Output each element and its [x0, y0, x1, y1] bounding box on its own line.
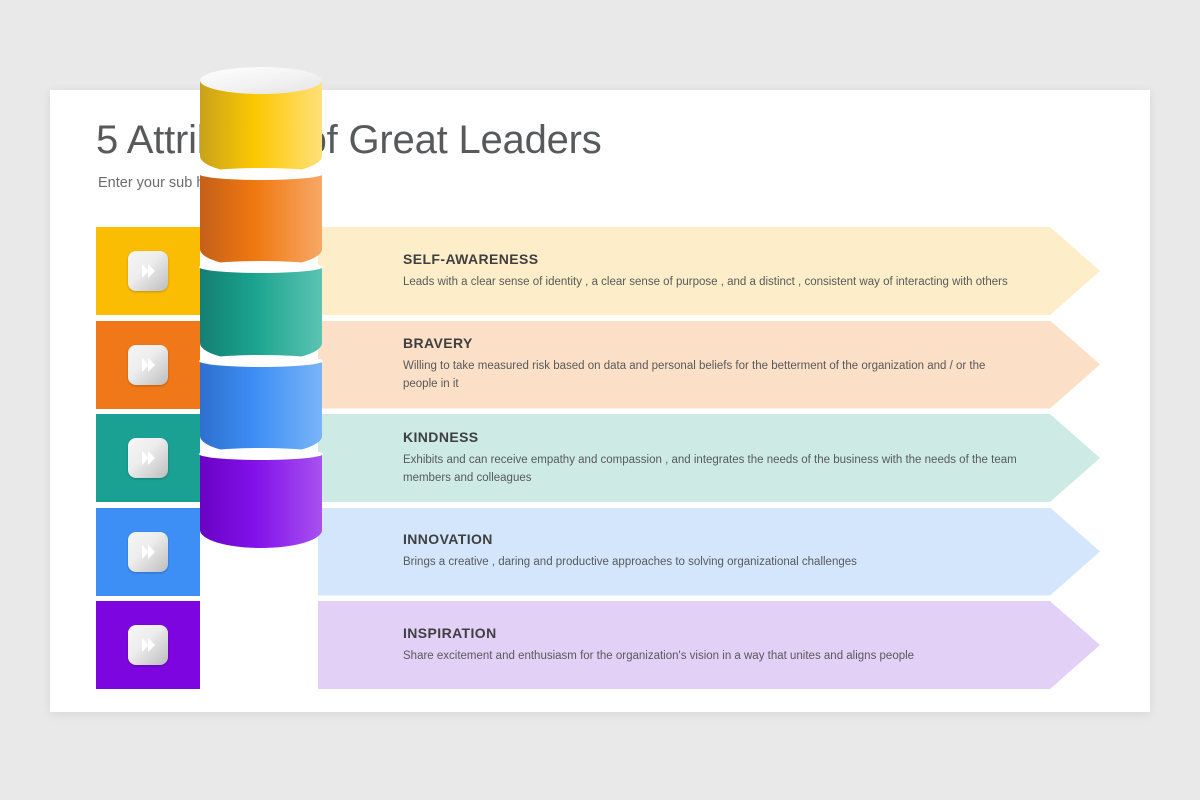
double-chevron-right-icon[interactable]: [128, 345, 168, 385]
attribute-banner: BRAVERYWilling to take measured risk bas…: [318, 321, 1100, 409]
cylinder-segment: [200, 361, 322, 455]
double-chevron-right-icon[interactable]: [128, 251, 168, 291]
attribute-banner: INNOVATIONBrings a creative , daring and…: [318, 508, 1100, 596]
cylinder-segment-rim: [199, 261, 323, 273]
cylinder-segment-rim: [199, 355, 323, 367]
attribute-description: Brings a creative , daring and productiv…: [403, 554, 1023, 572]
cylinder-top-ellipse: [200, 67, 322, 94]
attribute-text-block: BRAVERYWilling to take measured risk bas…: [403, 321, 1023, 409]
cylinder-segment: [200, 80, 322, 174]
attribute-description: Leads with a clear sense of identity , a…: [403, 274, 1023, 292]
cylinder-segment-body: [200, 174, 322, 268]
attribute-title: BRAVERY: [403, 335, 1023, 351]
attribute-description: Exhibits and can receive empathy and com…: [403, 452, 1023, 488]
attribute-title: INSPIRATION: [403, 625, 1023, 641]
attribute-title: KINDNESS: [403, 429, 1023, 445]
slide-card: 5 Attributes of Great Leaders Enter your…: [50, 90, 1150, 712]
attribute-color-tab[interactable]: [96, 414, 200, 502]
attribute-banner: SELF-AWARENESSLeads with a clear sense o…: [318, 227, 1100, 315]
attribute-color-tab[interactable]: [96, 321, 200, 409]
cylinder-segment-rim: [199, 448, 323, 460]
cylinder-segment-body: [200, 454, 322, 548]
attribute-color-tab[interactable]: [96, 601, 200, 689]
double-chevron-right-icon[interactable]: [128, 532, 168, 572]
attribute-title: INNOVATION: [403, 531, 1023, 547]
stacked-cylinder-graphic: [200, 80, 322, 552]
attribute-banner: KINDNESSExhibits and can receive empathy…: [318, 414, 1100, 502]
cylinder-segment: [200, 454, 322, 548]
cylinder-segment-body: [200, 267, 322, 361]
attribute-text-block: INNOVATIONBrings a creative , daring and…: [403, 508, 1023, 596]
cylinder-segment-body: [200, 80, 322, 174]
cylinder-segment-rim: [199, 168, 323, 180]
cylinder-segment: [200, 267, 322, 361]
attribute-color-tab[interactable]: [96, 227, 200, 315]
page-title: 5 Attributes of Great Leaders: [96, 118, 602, 163]
attribute-text-block: INSPIRATIONShare excitement and enthusia…: [403, 601, 1023, 689]
double-chevron-right-icon[interactable]: [128, 438, 168, 478]
attribute-row[interactable]: INSPIRATIONShare excitement and enthusia…: [50, 601, 1150, 689]
cylinder-segment-body: [200, 361, 322, 455]
attribute-text-block: KINDNESSExhibits and can receive empathy…: [403, 414, 1023, 502]
attribute-color-tab[interactable]: [96, 508, 200, 596]
double-chevron-right-icon[interactable]: [128, 625, 168, 665]
attribute-text-block: SELF-AWARENESSLeads with a clear sense o…: [403, 227, 1023, 315]
attribute-title: SELF-AWARENESS: [403, 251, 1023, 267]
attribute-banner: INSPIRATIONShare excitement and enthusia…: [318, 601, 1100, 689]
attribute-description: Willing to take measured risk based on d…: [403, 358, 1023, 394]
attribute-description: Share excitement and enthusiasm for the …: [403, 648, 1023, 666]
cylinder-segment: [200, 174, 322, 268]
